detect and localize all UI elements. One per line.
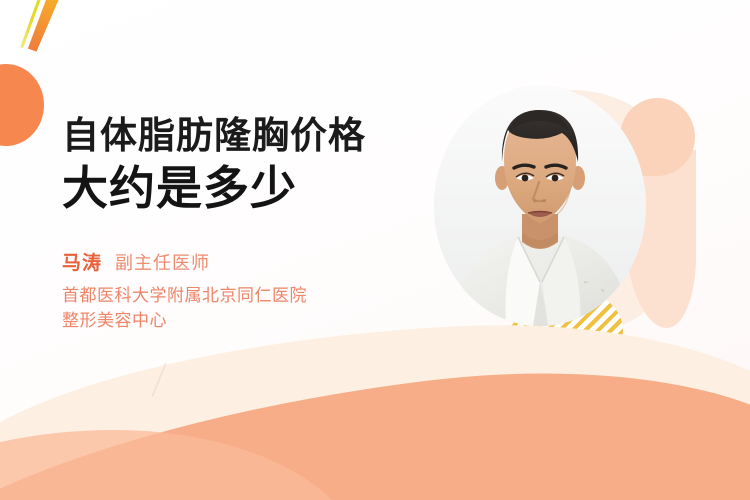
affiliation-line-2: 整形美容中心 xyxy=(62,308,422,333)
doctor-name: 马涛 xyxy=(62,248,102,275)
hairline-streak-decoration xyxy=(151,363,166,397)
thick-orange-streak-icon xyxy=(26,0,69,52)
poster-title-line-1: 自体脂肪隆胸价格 xyxy=(62,112,422,160)
orange-circle-decoration xyxy=(0,64,44,146)
doctor-info: 马涛 副主任医师 首都医科大学附属北京同仁医院 整形美容中心 xyxy=(62,248,422,333)
promo-poster: 自体脂肪隆胸价格 大约是多少 马涛 副主任医师 首都医科大学附属北京同仁医院 整… xyxy=(0,0,750,500)
cream-wave-decoration xyxy=(0,307,750,500)
thin-yellow-streak-icon xyxy=(20,0,47,48)
coral-wave-soft-decoration xyxy=(0,430,360,500)
coral-wave-decoration xyxy=(0,332,750,500)
doctor-name-row: 马涛 副主任医师 xyxy=(62,248,422,275)
doctor-portrait xyxy=(434,86,646,326)
doctor-rank: 副主任医师 xyxy=(115,249,210,275)
poster-title-line-2: 大约是多少 xyxy=(62,160,422,216)
poster-text-block: 自体脂肪隆胸价格 大约是多少 马涛 副主任医师 首都医科大学附属北京同仁医院 整… xyxy=(62,112,422,333)
doctor-affiliation: 首都医科大学附属北京同仁医院 整形美容中心 xyxy=(62,283,422,333)
affiliation-line-1: 首都医科大学附属北京同仁医院 xyxy=(62,283,422,308)
